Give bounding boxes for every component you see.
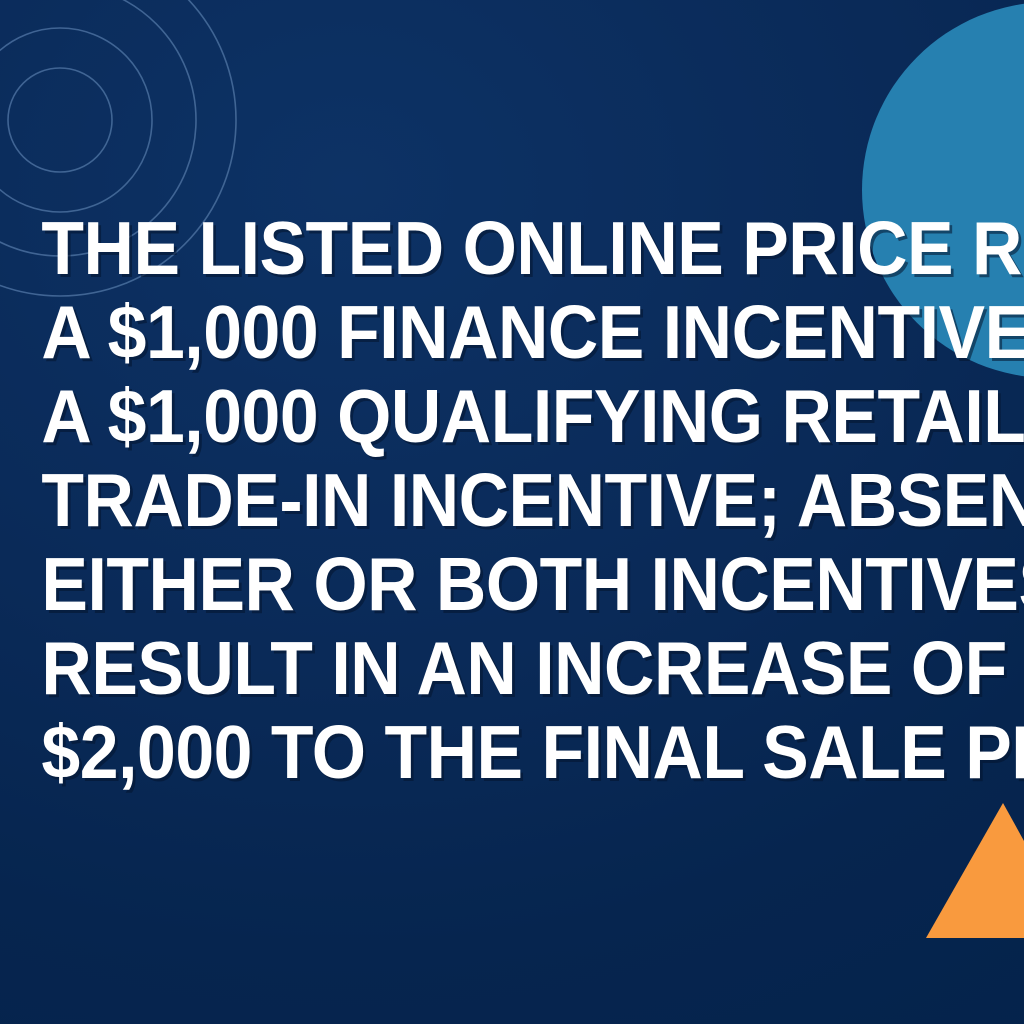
disclaimer-line-5: EITHER OR BOTH INCENTIVES WILL [41,542,982,626]
disclaimer-graphic: THE LISTED ONLINE PRICE REFLECTS A $1,00… [0,0,1024,1024]
disclaimer-line-6: RESULT IN AN INCREASE OF UP TO [41,626,982,710]
disclaimer-line-1: THE LISTED ONLINE PRICE REFLECTS [41,206,982,290]
disclaimer-line-7: $2,000 TO THE FINAL SALE PRICE. [41,710,982,794]
disclaimer-line-2: A $1,000 FINANCE INCENTIVE AND [41,290,982,374]
disclaimer-line-3: A $1,000 QUALIFYING RETAIL [41,374,982,458]
orange-triangle-icon [900,780,1024,960]
disclaimer-line-4: TRADE-IN INCENTIVE; ABSENCE OF [41,458,982,542]
disclaimer-text-block: THE LISTED ONLINE PRICE REFLECTS A $1,00… [0,206,1024,794]
